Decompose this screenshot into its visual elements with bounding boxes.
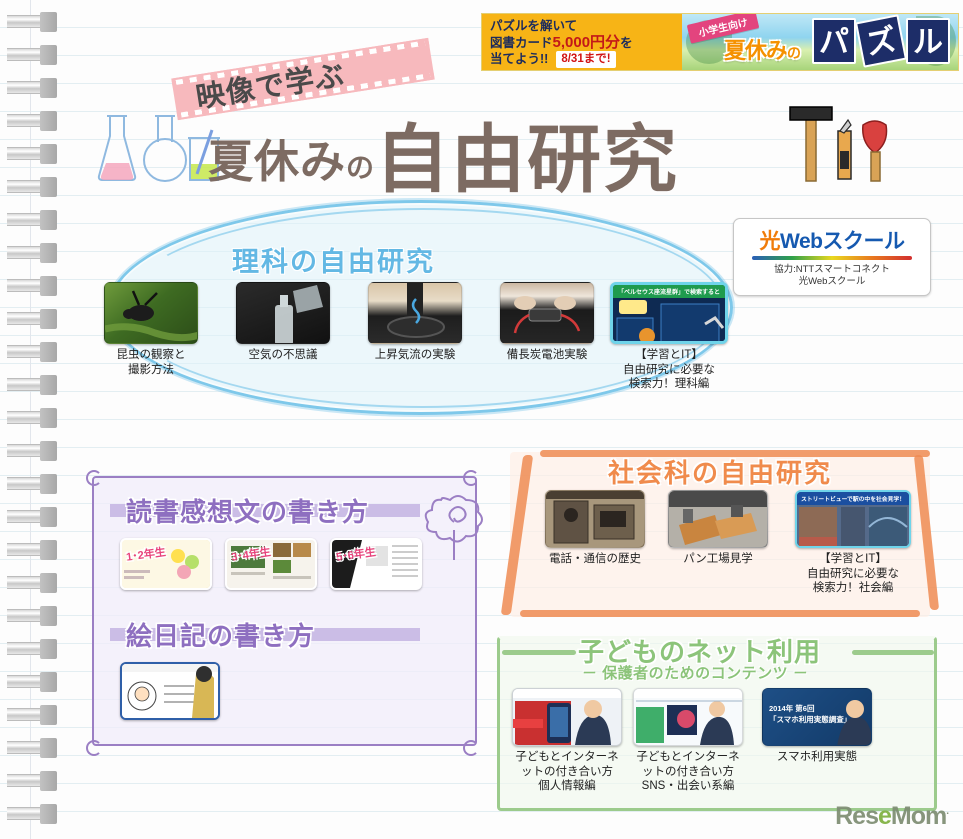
social-card-1-caption: 電話・通信の歴史 <box>545 552 645 567</box>
thumb-it-search-science[interactable]: 「ペルセウス座流星群」で検索すると <box>610 282 728 344</box>
science-card-1-caption: 昆虫の観察と 撮影方法 <box>104 348 198 377</box>
puzzle-tile-3: ル <box>906 18 950 64</box>
thumb-beetle-on-tree[interactable] <box>104 282 198 344</box>
reading-card-3[interactable]: 5･6年生 <box>330 538 422 590</box>
thumb-header-label: 「ペルセウス座流星群」で検索すると <box>613 285 725 298</box>
page-title: 夏休みの自由研究 <box>208 100 679 207</box>
thumb-book-report-grade12[interactable]: 1･2年生 <box>120 538 212 590</box>
thumb-kids-internet-privacy[interactable] <box>512 688 622 746</box>
hikari-logo: 光Webスクール <box>734 225 930 255</box>
spiral-ring <box>7 408 57 428</box>
internet-card-3[interactable]: 2014年 第6回 「スマホ利用実態調査」 スマホ利用実態 <box>762 688 872 765</box>
spiral-ring <box>7 177 57 197</box>
spiral-ring <box>7 210 57 230</box>
spiral-ring <box>7 243 57 263</box>
thumb-charcoal-battery-experiment[interactable] <box>500 282 594 344</box>
thumb-header-label: ストリートビューで駅の中を社会見学！ <box>797 492 909 505</box>
spiral-ring <box>7 738 57 758</box>
rainbow-underline <box>752 256 912 260</box>
science-section-title: 理科の自由研究 <box>232 240 435 279</box>
resemom-tm: . <box>946 806 949 817</box>
spiral-ring <box>7 672 57 692</box>
science-card-2[interactable]: 空気の不思議 <box>236 282 330 363</box>
spiral-ring <box>7 375 57 395</box>
science-card-1[interactable]: 昆虫の観察と 撮影方法 <box>104 282 198 377</box>
banner-line2-post: を <box>620 36 633 50</box>
banner-summer-label: 夏休みの <box>724 33 800 65</box>
internet-card-1[interactable]: 子どもとインターネ ットの付き合い方 個人情報編 <box>512 688 622 794</box>
page-title-part1: 夏休み <box>208 136 346 187</box>
spiral-ring <box>7 342 57 362</box>
social-card-2[interactable]: パン工場見学 <box>668 490 768 567</box>
banner-prize-amount: 5,000円分 <box>553 34 621 51</box>
spiral-ring <box>7 606 57 626</box>
social-card-3[interactable]: ストリートビューで駅の中を社会見学！ 【学習とIT】 自由研究に必要な 検索力！… <box>795 490 911 596</box>
green-title-line-left <box>502 650 576 655</box>
resemom-accent: e <box>878 802 891 830</box>
hikari-logo-web: Webスクール <box>780 230 904 253</box>
spiral-ring <box>7 111 57 131</box>
thumb-kids-internet-sns[interactable] <box>633 688 743 746</box>
puzzle-promo-banner[interactable]: パズルを解いて 図書カード5,000円分を 当てよう!!8/31まで! 小学生向… <box>482 14 958 70</box>
banner-text-panel: パズルを解いて 図書カード5,000円分を 当てよう!!8/31まで! <box>482 14 682 70</box>
social-section-title: 社会科の自由研究 <box>608 453 832 490</box>
science-section-title-text: 理科の自由研究 <box>232 247 435 277</box>
poster-page: パズルを解いて 図書カード5,000円分を 当てよう!!8/31まで! 小学生向… <box>0 0 963 839</box>
social-card-2-caption: パン工場見学 <box>668 552 768 567</box>
hikari-partner-text: 協力:NTTスマートコネクト 光Webスクール <box>734 264 930 288</box>
spiral-ring <box>7 45 57 65</box>
science-card-4-caption: 備長炭電池実験 <box>500 348 594 363</box>
internet-card-2-caption: 子どもとインターネ ットの付き合い方 SNS・出会い系編 <box>633 750 743 794</box>
science-card-4[interactable]: 備長炭電池実験 <box>500 282 594 363</box>
science-card-5-caption: 【学習とIT】 自由研究に必要な 検索力！理科編 <box>610 348 728 392</box>
hikari-web-school-logo-box[interactable]: 光Webスクール 協力:NTTスマートコネクト 光Webスクール <box>733 218 931 296</box>
green-title-line-right <box>852 650 934 655</box>
puzzle-tile-1: パ <box>812 18 856 64</box>
banner-line3: 当てよう!!8/31まで! <box>490 51 682 68</box>
spiral-ring <box>7 507 57 527</box>
thumb-telephone-history[interactable] <box>545 490 645 548</box>
page-title-particle: の <box>346 152 375 183</box>
spiral-ring <box>7 309 57 329</box>
reading-section-title: 読書感想文の書き方 <box>126 492 369 529</box>
thumb-bread-factory-tour[interactable] <box>668 490 768 548</box>
picture-diary-card-1[interactable] <box>120 662 220 720</box>
science-flask-icons <box>96 112 224 184</box>
spiral-ring <box>7 78 57 98</box>
brush-stroke-bottom <box>520 610 920 617</box>
internet-card-2[interactable]: 子どもとインターネ ットの付き合い方 SNS・出会い系編 <box>633 688 743 794</box>
science-card-3[interactable]: 上昇気流の実験 <box>368 282 462 363</box>
social-card-1[interactable]: 電話・通信の歴史 <box>545 490 645 567</box>
reading-card-1[interactable]: 1･2年生 <box>120 538 212 590</box>
spiral-ring <box>7 705 57 725</box>
thumb-updraft-experiment[interactable] <box>368 282 462 344</box>
swirl-corner-icon <box>463 740 479 756</box>
internet-card-1-caption: 子どもとインターネ ットの付き合い方 個人情報編 <box>512 750 622 794</box>
science-card-2-caption: 空気の不思議 <box>236 348 330 363</box>
thumb-plastic-bottle-experiment[interactable] <box>236 282 330 344</box>
spiral-ring <box>7 12 57 32</box>
thumb-smartphone-usage[interactable]: 2014年 第6回 「スマホ利用実態調査」 <box>762 688 872 746</box>
spiral-ring <box>7 276 57 296</box>
social-card-3-caption: 【学習とIT】 自由研究に必要な 検索力！社会編 <box>795 552 911 596</box>
tree-doodle-icon <box>420 470 490 560</box>
reading-card-2[interactable]: 3･4年生 <box>225 538 317 590</box>
banner-cta: 当てよう!! <box>490 52 548 66</box>
banner-line1: パズルを解いて <box>490 18 682 35</box>
resemom-watermark: ReseMom. <box>835 802 949 831</box>
thumb-book-report-grade34[interactable]: 3･4年生 <box>225 538 317 590</box>
swirl-corner-icon <box>86 740 102 756</box>
picture-diary-section-title: 絵日記の書き方 <box>126 616 315 653</box>
swirl-corner-icon <box>86 470 102 486</box>
spiral-ring <box>7 639 57 659</box>
resemom-text2: Mom <box>891 802 946 830</box>
banner-art-panel: 小学生向け 夏休みの パ ズ ル <box>682 14 958 70</box>
banner-summer-text: 夏休み <box>724 38 787 63</box>
thumb-it-search-social[interactable]: ストリートビューで駅の中を社会見学！ <box>795 490 911 548</box>
diy-tool-icons <box>788 103 892 185</box>
spiral-ring <box>7 441 57 461</box>
banner-summer-particle: の <box>787 45 800 61</box>
spiral-ring <box>7 144 57 164</box>
banner-deadline: 8/31まで! <box>556 51 615 68</box>
spiral-binding <box>0 0 62 839</box>
spiral-ring <box>7 804 57 824</box>
thumb-book-report-grade56[interactable]: 5･6年生 <box>330 538 422 590</box>
puzzle-tiles: パ ズ ル <box>812 18 950 64</box>
spiral-ring <box>7 474 57 494</box>
science-card-3-caption: 上昇気流の実験 <box>368 348 462 363</box>
spiral-ring <box>7 771 57 791</box>
page-title-main: 自由研究 <box>375 118 679 201</box>
science-card-5[interactable]: 「ペルセウス座流星群」で検索すると 【学習とIT】 自由研究に必要な 検索力！理… <box>610 282 728 392</box>
banner-line2: 図書カード5,000円分を <box>490 35 682 52</box>
hikari-logo-kanji: 光 <box>760 230 781 253</box>
puzzle-tile-2: ズ <box>855 14 907 68</box>
spiral-ring <box>7 573 57 593</box>
internet-card-3-caption: スマホ利用実態 <box>762 750 872 765</box>
spiral-ring <box>7 540 57 560</box>
thumb-picture-diary-lesson[interactable] <box>120 662 220 720</box>
resemom-text: Res <box>835 802 878 830</box>
internet-section-subtitle: － 保護者のためのコンテンツ － <box>582 662 808 683</box>
banner-line2-pre: 図書カード <box>490 36 553 50</box>
